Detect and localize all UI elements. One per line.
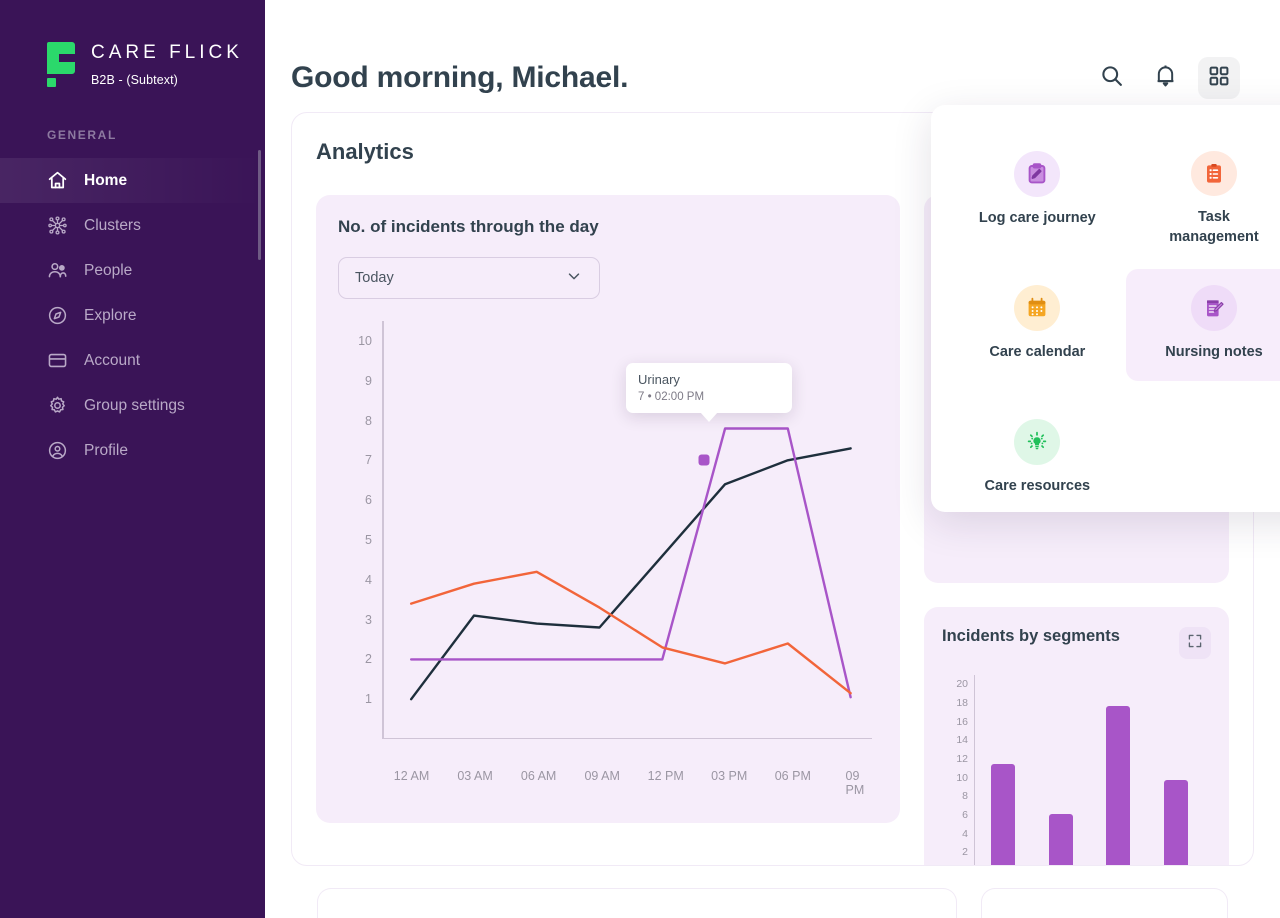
bar[interactable] bbox=[1049, 814, 1073, 866]
app-root: CARE FLICK B2B - (Subtext) GENERAL Home … bbox=[0, 0, 1280, 918]
main-content: Good morning, Michael. bbox=[265, 0, 1280, 918]
app-item-log-care-journey[interactable]: Log care journey bbox=[949, 135, 1126, 247]
bar[interactable] bbox=[1164, 780, 1188, 866]
bar-chart-plot bbox=[974, 675, 1205, 866]
user-circle-icon bbox=[47, 440, 68, 461]
line-chart-x-axis: 12 AM03 AM06 AM09 AM12 PM03 PM06 PM09 PM bbox=[382, 765, 878, 789]
line-chart-hover-point[interactable] bbox=[698, 455, 709, 466]
expand-button[interactable] bbox=[1179, 627, 1211, 659]
task-list-icon bbox=[1191, 151, 1237, 196]
people-icon bbox=[47, 260, 68, 281]
line-chart-y-axis: 12345678910 bbox=[338, 317, 372, 757]
tooltip-detail: 7 • 02:00 PM bbox=[638, 391, 780, 403]
incidents-line-chart-card: No. of incidents through the day Today 1… bbox=[316, 195, 900, 823]
card-icon bbox=[47, 350, 68, 371]
bottom-card-right bbox=[981, 888, 1228, 918]
line-chart-area: 12345678910 Urinary 7 • 02:00 PM bbox=[338, 317, 878, 807]
expand-icon bbox=[1187, 633, 1203, 654]
brand-subtext: B2B - (Subtext) bbox=[91, 73, 243, 87]
sidebar-item-account[interactable]: Account bbox=[0, 338, 265, 383]
y-tick-label: 3 bbox=[365, 613, 372, 627]
bar-y-tick-label: 2 bbox=[962, 846, 968, 858]
bar-y-tick-label: 14 bbox=[956, 734, 968, 746]
x-tick-label: 12 AM bbox=[394, 769, 429, 783]
app-item-label: Care resources bbox=[985, 476, 1091, 496]
y-tick-label: 4 bbox=[365, 573, 372, 587]
app-item-label: Care calendar bbox=[989, 342, 1085, 362]
grid-apps-icon bbox=[1207, 64, 1231, 93]
y-tick-label: 8 bbox=[365, 414, 372, 428]
sidebar-item-people[interactable]: People bbox=[0, 248, 265, 293]
sidebar-nav: Home Clusters People Explore bbox=[0, 158, 265, 473]
sidebar-section-label: GENERAL bbox=[0, 87, 265, 142]
topbar-actions bbox=[1090, 57, 1240, 99]
notifications-button[interactable] bbox=[1144, 57, 1186, 99]
bar-chart-area: 2468101214161820 MorningAfternoonEvening… bbox=[942, 675, 1211, 866]
y-tick-label: 9 bbox=[365, 374, 372, 388]
sidebar-item-label: People bbox=[84, 262, 132, 280]
bar-chart-title: Incidents by segments bbox=[942, 627, 1120, 646]
bar-y-tick-label: 18 bbox=[956, 697, 968, 709]
x-tick-label: 03 PM bbox=[711, 769, 747, 783]
topbar: Good morning, Michael. bbox=[265, 0, 1280, 112]
clusters-icon bbox=[47, 215, 68, 236]
sidebar-item-label: Group settings bbox=[84, 397, 185, 415]
y-axis-line bbox=[382, 321, 384, 739]
x-tick-label: 12 PM bbox=[648, 769, 684, 783]
clipboard-pen-icon bbox=[1014, 151, 1060, 197]
sidebar-item-label: Clusters bbox=[84, 217, 141, 235]
bar-y-tick-label: 4 bbox=[962, 828, 968, 840]
bottom-card-row bbox=[291, 866, 1254, 918]
date-range-value: Today bbox=[355, 270, 394, 286]
sidebar-item-profile[interactable]: Profile bbox=[0, 428, 265, 473]
chevron-down-icon bbox=[565, 267, 583, 289]
lightbulb-icon bbox=[1014, 419, 1060, 465]
sidebar-item-label: Home bbox=[84, 172, 127, 190]
page-title: Good morning, Michael. bbox=[291, 61, 628, 95]
sidebar-item-label: Profile bbox=[84, 442, 128, 460]
line-chart-plot: Urinary 7 • 02:00 PM bbox=[382, 317, 872, 757]
bar-chart-y-axis: 2468101214161820 bbox=[942, 675, 968, 866]
y-tick-label: 7 bbox=[365, 453, 372, 467]
y-tick-label: 2 bbox=[365, 652, 372, 666]
bar[interactable] bbox=[1106, 706, 1130, 866]
bell-icon bbox=[1153, 63, 1178, 93]
app-item-care-calendar[interactable]: Care calendar bbox=[949, 269, 1126, 381]
bar-y-tick-label: 20 bbox=[956, 678, 968, 690]
x-tick-label: 06 AM bbox=[521, 769, 556, 783]
bottom-card-left bbox=[317, 888, 957, 918]
app-item-label: Nursing notes bbox=[1165, 342, 1262, 362]
line-series-urinary bbox=[411, 429, 850, 698]
app-item-label: Task management bbox=[1154, 207, 1274, 247]
y-tick-label: 6 bbox=[365, 493, 372, 507]
home-icon bbox=[47, 170, 68, 191]
x-axis-line bbox=[382, 738, 872, 740]
bar-y-tick-label: 6 bbox=[962, 809, 968, 821]
tooltip-title: Urinary bbox=[638, 372, 780, 387]
calendar-icon bbox=[1014, 285, 1060, 331]
line-chart-tooltip: Urinary 7 • 02:00 PM bbox=[626, 363, 792, 413]
incidents-by-segments-card: Incidents by segments 2468101214161820 bbox=[924, 607, 1229, 866]
search-icon bbox=[1099, 63, 1124, 93]
notes-pen-icon bbox=[1191, 285, 1237, 331]
y-tick-label: 10 bbox=[358, 334, 372, 348]
x-tick-label: 03 AM bbox=[457, 769, 492, 783]
x-tick-label: 09 PM bbox=[846, 769, 868, 797]
brand[interactable]: CARE FLICK B2B - (Subtext) bbox=[0, 0, 265, 87]
apps-dropdown-menu: Log care journey Task management Medicat… bbox=[931, 105, 1280, 512]
bar-y-tick-label: 16 bbox=[956, 716, 968, 728]
line-series-falls bbox=[411, 448, 850, 699]
compass-icon bbox=[47, 305, 68, 326]
sidebar-item-explore[interactable]: Explore bbox=[0, 293, 265, 338]
bar-y-tick-label: 12 bbox=[956, 753, 968, 765]
app-item-care-resources[interactable]: Care resources bbox=[949, 403, 1126, 515]
sidebar-item-home[interactable]: Home bbox=[0, 158, 265, 203]
apps-button[interactable] bbox=[1198, 57, 1240, 99]
sidebar-item-group-settings[interactable]: Group settings bbox=[0, 383, 265, 428]
line-chart-title: No. of incidents through the day bbox=[338, 217, 878, 237]
bar-y-tick-label: 10 bbox=[956, 772, 968, 784]
sidebar-item-label: Account bbox=[84, 352, 140, 370]
app-item-nursing-notes[interactable]: Nursing notes bbox=[1126, 269, 1280, 381]
date-range-select[interactable]: Today bbox=[338, 257, 600, 299]
sidebar-item-clusters[interactable]: Clusters bbox=[0, 203, 265, 248]
x-tick-label: 06 PM bbox=[775, 769, 811, 783]
bar-y-axis-line bbox=[974, 675, 975, 866]
app-item-task-management[interactable]: Task management bbox=[1126, 135, 1280, 247]
y-tick-label: 5 bbox=[365, 533, 372, 547]
app-item-label: Log care journey bbox=[979, 208, 1096, 228]
sidebar-item-label: Explore bbox=[84, 307, 137, 325]
bar-y-tick-label: 8 bbox=[962, 790, 968, 802]
y-tick-label: 1 bbox=[365, 692, 372, 706]
bar[interactable] bbox=[991, 764, 1015, 866]
search-button[interactable] bbox=[1090, 57, 1132, 99]
care-flick-logo-icon bbox=[47, 42, 77, 86]
brand-title: CARE FLICK bbox=[91, 42, 243, 64]
gear-icon bbox=[47, 395, 68, 416]
sidebar: CARE FLICK B2B - (Subtext) GENERAL Home … bbox=[0, 0, 265, 918]
x-tick-label: 09 AM bbox=[584, 769, 619, 783]
sidebar-scrollbar[interactable] bbox=[258, 150, 261, 260]
